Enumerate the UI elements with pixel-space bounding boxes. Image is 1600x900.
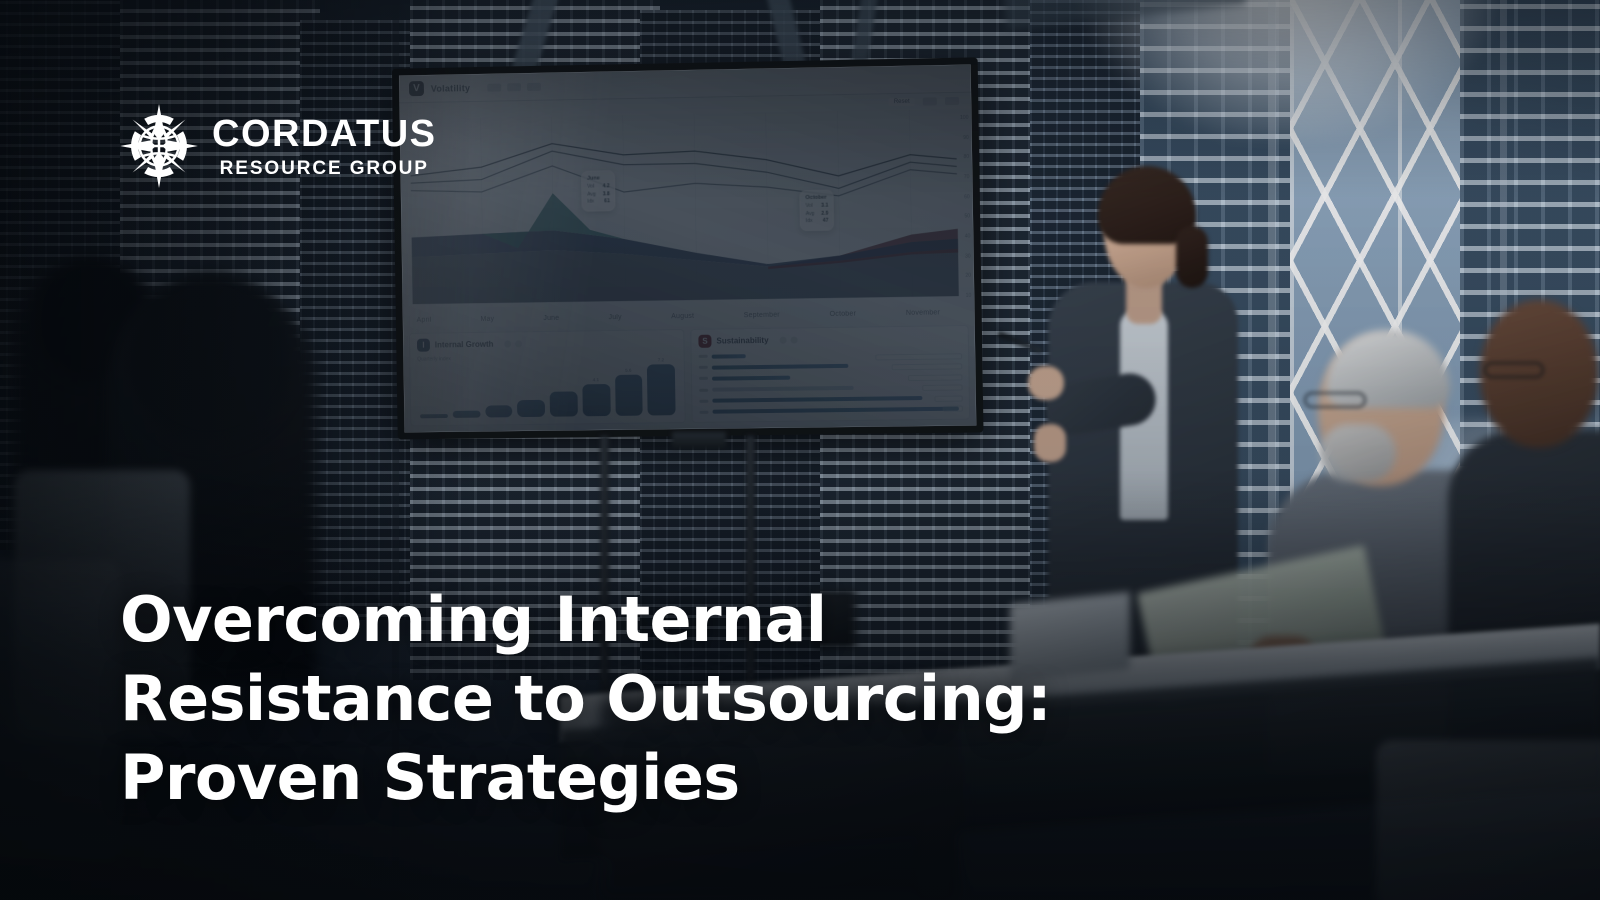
title-line-3: Proven Strategies <box>120 738 1060 817</box>
tooltip-row: Idx 61 <box>587 198 610 206</box>
attendee-glasses-icon <box>1304 392 1366 408</box>
tooltip-value: 3.8 <box>603 191 610 199</box>
tooltip-key: Vol <box>587 184 594 192</box>
chart-tooltip-october[interactable]: October Vol 3.1 Avg 2.9 Idx 4 <box>799 189 834 230</box>
window-flare <box>1080 0 1500 140</box>
brand-name: CORDATUS <box>212 115 437 153</box>
tooltip-value: 2.9 <box>821 210 828 218</box>
tooltip-key: Avg <box>587 191 596 199</box>
tooltip-key: Idx <box>587 199 594 207</box>
hero-banner: V Volatility Reset <box>0 0 1600 900</box>
display-bezel <box>392 57 984 439</box>
presentation-display[interactable]: V Volatility Reset <box>392 57 984 439</box>
tooltip-value: 61 <box>604 198 610 206</box>
brand-logo[interactable]: CORDATUS RESOURCE GROUP <box>120 104 437 188</box>
title-line-2: Resistance to Outsourcing: <box>120 659 1060 738</box>
tooltip-value: 4.2 <box>603 183 610 191</box>
tooltip-title: June <box>587 175 609 181</box>
presenter-hair-bun <box>1176 226 1208 288</box>
presenter-hand <box>1028 366 1064 400</box>
brand-tagline: RESOURCE GROUP <box>212 159 437 178</box>
title-line-1: Overcoming Internal <box>120 580 1060 659</box>
tooltip-key: Vol <box>806 203 813 211</box>
globe-compass-icon <box>120 104 198 188</box>
presenter-hand-lower <box>1034 424 1066 462</box>
attendee-grey-beard <box>1320 424 1396 482</box>
chair-right-foreground <box>1376 740 1600 900</box>
tooltip-value: 47 <box>823 218 829 226</box>
page-title: Overcoming Internal Resistance to Outsou… <box>120 580 1060 818</box>
chair-left-2 <box>0 560 120 860</box>
attendee-right-glasses-icon <box>1484 362 1544 378</box>
attendee-silhouette-2-head <box>126 272 294 444</box>
tooltip-value: 3.1 <box>821 203 828 211</box>
tooltip-key: Avg <box>806 210 815 218</box>
tooltip-key: Idx <box>806 218 813 226</box>
tooltip-title: October <box>805 195 828 201</box>
display-stand-mount <box>672 432 726 448</box>
chart-tooltip-june[interactable]: June Vol 4.2 Avg 3.8 Idx 61 <box>581 170 616 211</box>
brand-wordmark: CORDATUS RESOURCE GROUP <box>212 115 437 178</box>
tooltip-row: Idx 47 <box>806 218 829 226</box>
